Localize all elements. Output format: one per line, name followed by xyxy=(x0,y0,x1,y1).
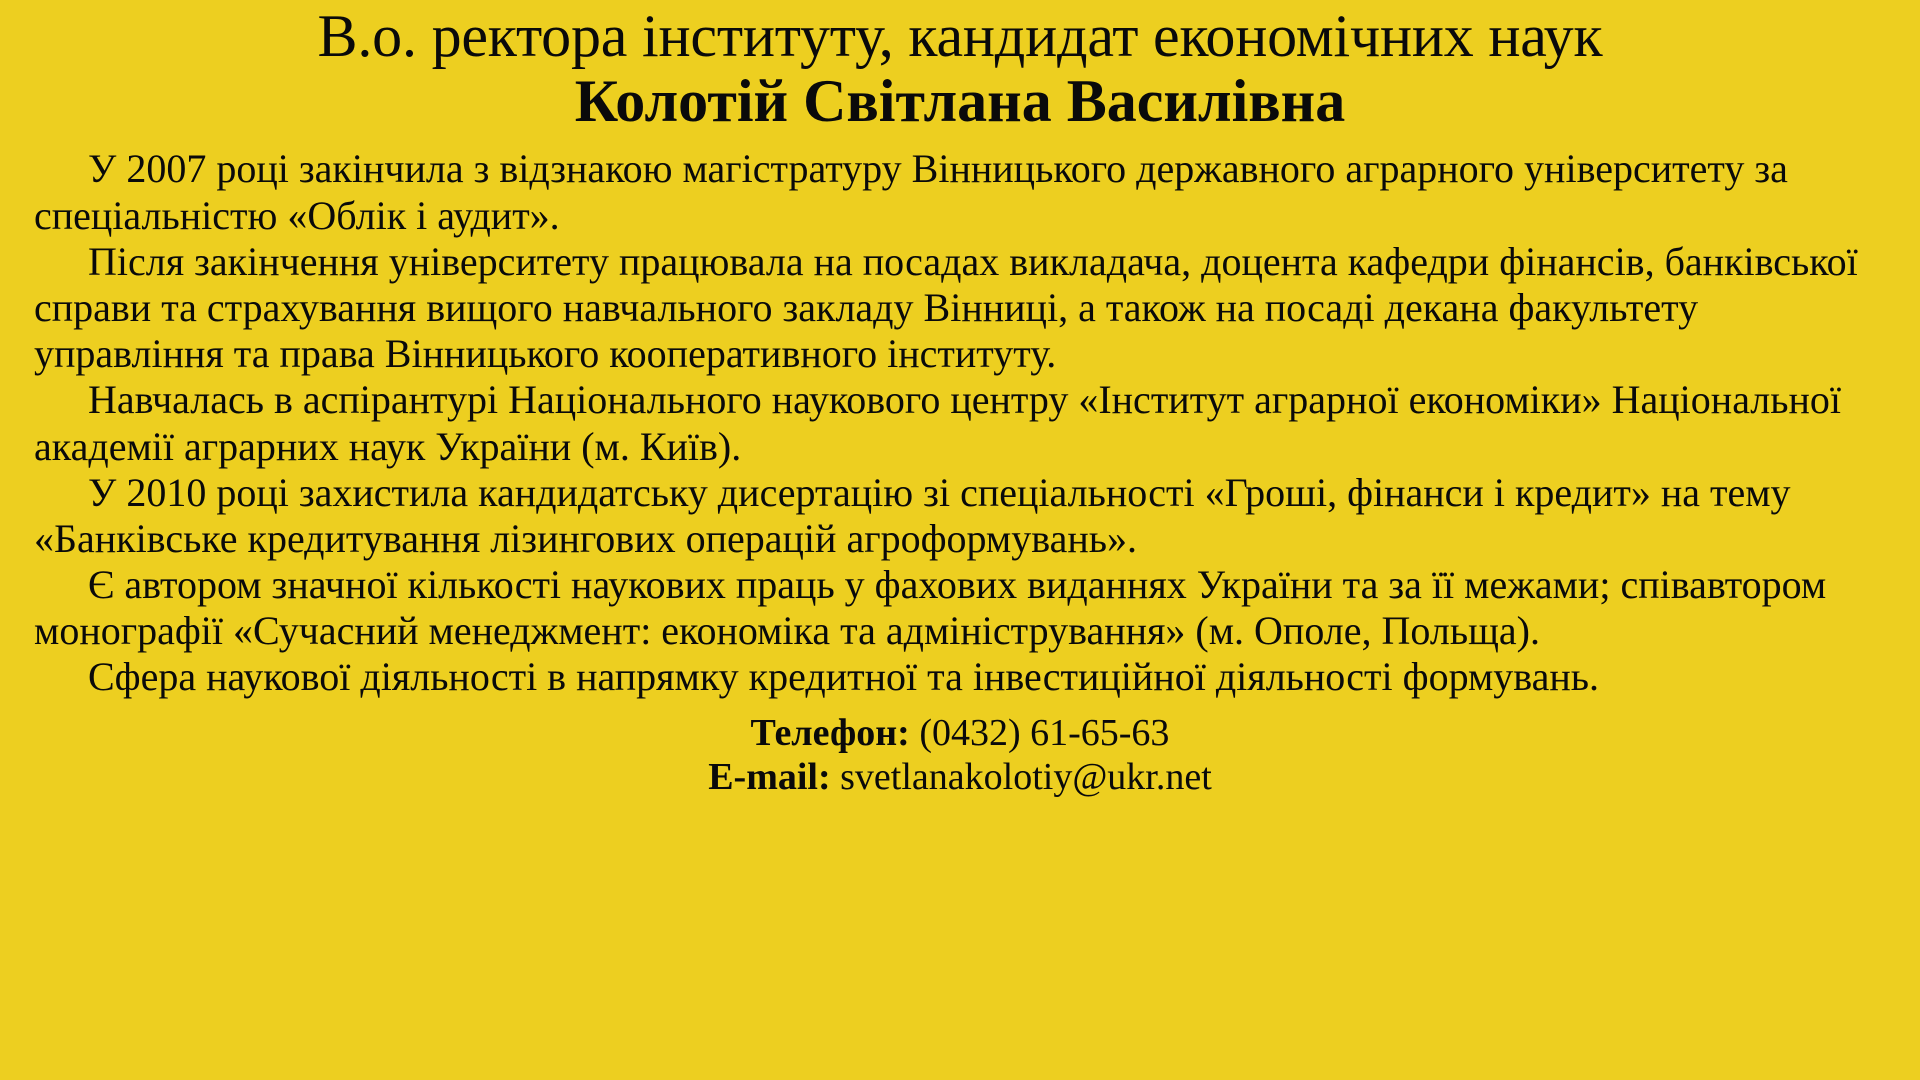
contact-email-value[interactable]: svetlanakolotiy@ukr.net xyxy=(840,756,1212,798)
contact-phone-value: (0432) 61-65-63 xyxy=(919,712,1169,754)
contact-block: Телефон: (0432) 61-65-63 E-mail: svetlan… xyxy=(34,711,1886,801)
paragraph-publications: Є автором значної кількості наукових пра… xyxy=(34,562,1886,654)
biography-body: У 2007 році закінчила з відзнакою магіст… xyxy=(34,146,1886,700)
page-title-line-2: Колотій Світлана Василівна xyxy=(34,71,1886,132)
biography-slide: В.о. ректора інституту, кандидат економі… xyxy=(0,0,1920,1080)
paragraph-research-area: Сфера наукової діяльності в напрямку кре… xyxy=(34,654,1886,700)
contact-email-row: E-mail: svetlanakolotiy@ukr.net xyxy=(34,755,1886,800)
paragraph-education-master: У 2007 році закінчила з відзнакою магіст… xyxy=(34,146,1886,238)
paragraph-postgraduate-studies: Навчалась в аспірантурі Національного на… xyxy=(34,377,1886,469)
paragraph-career-positions: Після закінчення університету працювала … xyxy=(34,239,1886,378)
contact-phone-row: Телефон: (0432) 61-65-63 xyxy=(34,711,1886,756)
paragraph-dissertation-defense: У 2010 році захистила кандидатську дисер… xyxy=(34,470,1886,562)
contact-email-label: E-mail: xyxy=(708,756,830,798)
page-title-line-1: В.о. ректора інституту, кандидат економі… xyxy=(34,6,1886,67)
title-block: В.о. ректора інституту, кандидат економі… xyxy=(34,6,1886,132)
contact-phone-label: Телефон: xyxy=(751,712,910,754)
